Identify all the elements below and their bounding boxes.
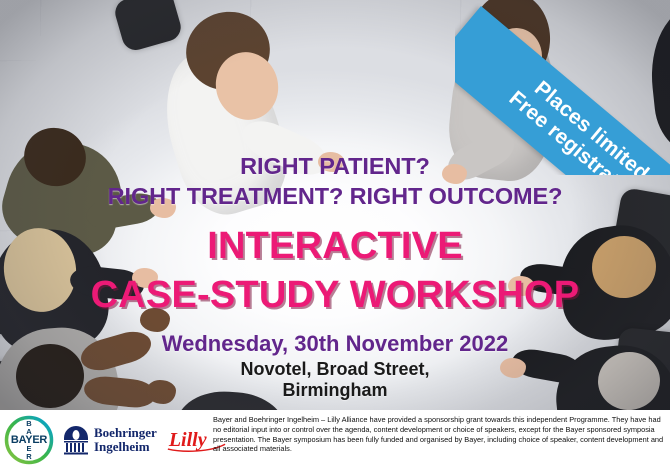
event-date: Wednesday, 30th November 2022 [0,330,670,359]
svg-text:Lilly: Lilly [168,429,207,451]
headline: RIGHT PATIENT? RIGHT TREATMENT? RIGHT OU… [0,152,670,211]
bayer-logo: BAYER B A E R [4,415,54,465]
footer: BAYER B A E R [0,410,670,469]
boehringer-ingelheim-wordmark: Boehringer Ingelheim [94,426,157,453]
svg-text:A: A [26,427,32,436]
event-title: INTERACTIVE CASE-STUDY WORKSHOP [0,222,670,321]
title-line-1: INTERACTIVE [0,222,670,271]
boehringer-line-2: Ingelheim [94,440,157,453]
boehringer-ingelheim-logo: Boehringer Ingelheim [62,425,157,455]
headline-line-2: RIGHT TREATMENT? RIGHT OUTCOME? [0,182,670,212]
headline-line-1: RIGHT PATIENT? [0,152,670,182]
title-line-2: CASE-STUDY WORKSHOP [0,271,670,320]
sponsor-logos: BAYER B A E R [0,410,213,469]
sponsorship-disclaimer: Bayer and Boehringer Ingelheim – Lilly A… [213,410,670,454]
event-poster: Places limited Free registration RIGHT P… [0,0,670,469]
event-details: Wednesday, 30th November 2022 Novotel, B… [0,330,670,401]
boehringer-mark-icon [62,425,90,455]
boehringer-line-1: Boehringer [94,426,157,439]
event-venue-line-1: Novotel, Broad Street, [0,359,670,380]
event-venue-line-2: Birmingham [0,380,670,401]
svg-text:R: R [26,452,32,461]
